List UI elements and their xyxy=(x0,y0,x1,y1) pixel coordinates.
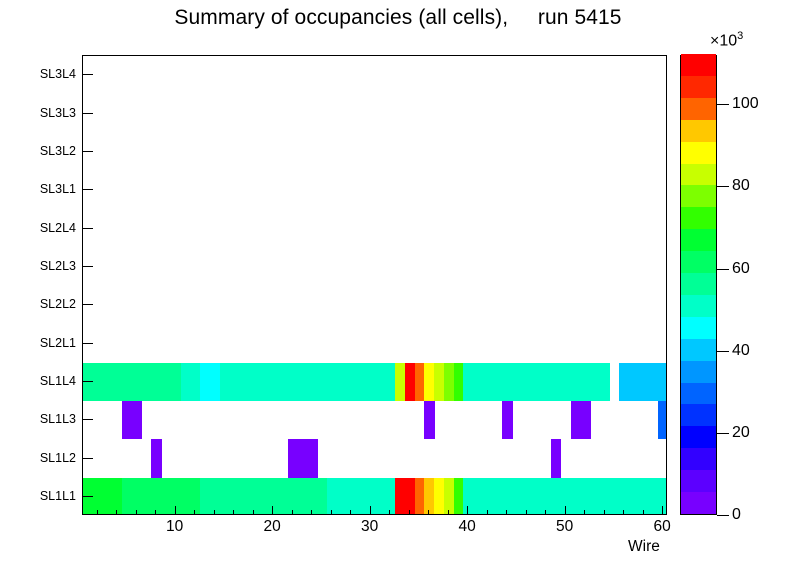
heatmap-cell xyxy=(161,478,171,514)
heatmap-cell xyxy=(600,363,610,401)
heatmap-cell xyxy=(454,363,464,401)
heatmap-cell xyxy=(366,363,376,401)
heatmap-cell xyxy=(249,478,259,514)
heatmap-cell xyxy=(346,363,356,401)
heatmap-cell xyxy=(210,478,220,514)
heatmap-cell xyxy=(239,363,249,401)
heatmap-cell xyxy=(580,401,590,439)
z-exponent-power: 3 xyxy=(737,30,743,42)
heatmap-cell xyxy=(337,478,347,514)
heatmap-cell xyxy=(181,363,191,401)
heatmap-cell xyxy=(132,401,142,439)
heatmap-cell xyxy=(307,363,317,401)
heatmap-cell xyxy=(239,478,249,514)
heatmap-cell xyxy=(493,363,503,401)
heatmap-cell xyxy=(151,363,161,401)
y-axis-tick xyxy=(82,189,93,190)
heatmap-cell xyxy=(220,478,230,514)
heatmap-cell xyxy=(122,478,132,514)
z-axis-tick xyxy=(717,433,729,434)
heatmap-cell xyxy=(288,363,298,401)
heatmap-cell xyxy=(405,363,415,401)
color-scale-band xyxy=(681,141,716,163)
heatmap-cell xyxy=(259,363,269,401)
heatmap-cell xyxy=(551,363,561,401)
heatmap-cell xyxy=(493,478,503,514)
color-scale-bar xyxy=(680,55,717,515)
x-axis-minor-tick xyxy=(487,510,488,515)
x-axis-minor-tick xyxy=(623,510,624,515)
heatmap-cell xyxy=(541,363,551,401)
x-axis-major-tick xyxy=(662,506,663,515)
x-axis-minor-tick xyxy=(233,510,234,515)
heatmap-cell xyxy=(229,363,239,401)
heatmap-cell xyxy=(93,363,103,401)
color-scale-band xyxy=(681,492,716,514)
z-axis-tick xyxy=(717,351,729,352)
heatmap-cell xyxy=(639,478,649,514)
y-axis-label-sl3l2: SL3L2 xyxy=(40,144,76,158)
heatmap-cell xyxy=(502,363,512,401)
heatmap-cell xyxy=(103,478,113,514)
heatmap-cell xyxy=(658,363,666,401)
heatmap-cell xyxy=(639,363,649,401)
heatmap-cell xyxy=(337,363,347,401)
heatmap-cell xyxy=(327,363,337,401)
heatmap-cell xyxy=(571,478,581,514)
page-title: Summary of occupancies (all cells), run … xyxy=(0,6,796,30)
heatmap-cell xyxy=(298,478,308,514)
color-scale-band xyxy=(681,185,716,207)
heatmap-cell xyxy=(551,439,561,477)
heatmap-cell xyxy=(619,363,629,401)
heatmap-cell xyxy=(600,478,610,514)
heatmap-cell xyxy=(405,478,415,514)
y-axis-label-sl1l4: SL1L4 xyxy=(40,374,76,388)
x-axis-major-tick xyxy=(565,506,566,515)
y-axis-tick xyxy=(82,266,93,267)
heatmap-plot-area xyxy=(83,56,666,514)
y-axis-tick xyxy=(82,151,93,152)
heatmap-cell xyxy=(93,478,103,514)
heatmap-cell xyxy=(658,401,666,439)
y-axis-label-sl2l2: SL2L2 xyxy=(40,297,76,311)
color-scale-band xyxy=(681,207,716,229)
heatmap-cell xyxy=(161,363,171,401)
heatmap-cell xyxy=(181,478,191,514)
heatmap-cell xyxy=(356,478,366,514)
heatmap-cell xyxy=(376,478,386,514)
z-axis-tick-label: 40 xyxy=(732,342,750,360)
x-axis-minor-tick xyxy=(194,510,195,515)
heatmap-cell xyxy=(151,478,161,514)
heatmap-cell xyxy=(259,478,269,514)
x-axis-minor-tick xyxy=(331,510,332,515)
heatmap-cell xyxy=(190,478,200,514)
z-axis-tick-label: 0 xyxy=(732,506,741,524)
root-canvas: Summary of occupancies (all cells), run … xyxy=(0,0,796,572)
x-axis-minor-tick xyxy=(604,510,605,515)
color-scale-band xyxy=(681,404,716,426)
heatmap-cell xyxy=(356,363,366,401)
heatmap-cell xyxy=(512,478,522,514)
heatmap-cell xyxy=(424,401,434,439)
x-axis-minor-tick xyxy=(311,510,312,515)
heatmap-cell xyxy=(307,439,317,477)
x-axis-minor-tick xyxy=(97,510,98,515)
heatmap-cell xyxy=(151,439,161,477)
y-axis-label-sl2l4: SL2L4 xyxy=(40,221,76,235)
y-axis-tick xyxy=(82,74,93,75)
x-axis-major-tick xyxy=(175,506,176,515)
x-axis-minor-tick xyxy=(116,510,117,515)
color-scale-band xyxy=(681,273,716,295)
x-axis-minor-tick xyxy=(214,510,215,515)
color-scale-band xyxy=(681,338,716,360)
x-axis-major-tick xyxy=(272,506,273,515)
heatmap-cell xyxy=(502,478,512,514)
heatmap-cell xyxy=(112,363,122,401)
heatmap-cell xyxy=(220,363,230,401)
y-axis-label-sl3l3: SL3L3 xyxy=(40,106,76,120)
heatmap-cell xyxy=(288,478,298,514)
heatmap-cell xyxy=(142,363,152,401)
color-scale-band xyxy=(681,229,716,251)
x-axis-tick-label: 50 xyxy=(556,518,573,536)
y-axis-tick xyxy=(82,381,93,382)
heatmap-cell xyxy=(346,478,356,514)
heatmap-cell xyxy=(512,363,522,401)
color-scale-band xyxy=(681,295,716,317)
x-axis-minor-tick xyxy=(428,510,429,515)
heatmap-cell xyxy=(415,363,425,401)
heatmap-cell xyxy=(200,363,210,401)
heatmap-cell xyxy=(307,478,317,514)
x-axis-tick-label: 10 xyxy=(166,518,183,536)
y-axis-tick xyxy=(82,496,93,497)
x-axis-minor-tick xyxy=(526,510,527,515)
heatmap-cell xyxy=(298,439,308,477)
heatmap-cell xyxy=(395,363,405,401)
heatmap-cell xyxy=(444,363,454,401)
heatmap-cell xyxy=(629,478,639,514)
heatmap-cell xyxy=(629,363,639,401)
heatmap-cell xyxy=(649,363,659,401)
color-scale-band xyxy=(681,97,716,119)
x-axis-minor-tick xyxy=(389,510,390,515)
heatmap-cell xyxy=(522,363,532,401)
heatmap-cell xyxy=(112,478,122,514)
heatmap-cell xyxy=(473,363,483,401)
heatmap-cell xyxy=(561,478,571,514)
color-scale-band xyxy=(681,76,716,98)
y-axis-tick xyxy=(82,343,93,344)
heatmap-cell xyxy=(541,478,551,514)
heatmap-cell xyxy=(463,363,473,401)
y-axis-label-sl3l4: SL3L4 xyxy=(40,67,76,81)
x-axis-title: Wire xyxy=(628,538,660,556)
plot-frame xyxy=(82,55,667,515)
color-scale-band xyxy=(681,251,716,273)
x-axis-minor-tick xyxy=(155,510,156,515)
heatmap-cell xyxy=(571,401,581,439)
z-axis-tick xyxy=(717,186,729,187)
z-axis-tick-label: 20 xyxy=(732,424,750,442)
heatmap-cell xyxy=(580,363,590,401)
heatmap-cell xyxy=(376,363,386,401)
color-scale-band xyxy=(681,316,716,338)
heatmap-cell xyxy=(171,363,181,401)
heatmap-cell xyxy=(278,478,288,514)
heatmap-cell xyxy=(288,439,298,477)
heatmap-cell xyxy=(571,363,581,401)
heatmap-cell xyxy=(424,478,434,514)
y-axis-labels: SL1L1SL1L2SL1L3SL1L4SL2L1SL2L2SL2L3SL2L4… xyxy=(0,0,77,572)
heatmap-cell xyxy=(171,478,181,514)
heatmap-cell xyxy=(415,478,425,514)
x-axis-major-tick xyxy=(467,506,468,515)
y-axis-label-sl2l1: SL2L1 xyxy=(40,336,76,350)
heatmap-cell xyxy=(395,478,405,514)
color-scale-band xyxy=(681,360,716,382)
heatmap-cell xyxy=(249,363,259,401)
x-axis-tick-label: 30 xyxy=(361,518,378,536)
y-axis-tick xyxy=(82,458,93,459)
heatmap-cell xyxy=(502,401,512,439)
y-axis-tick xyxy=(82,304,93,305)
heatmap-cell xyxy=(278,363,288,401)
heatmap-cell xyxy=(103,363,113,401)
z-axis-tick xyxy=(717,269,729,270)
heatmap-cell xyxy=(317,478,327,514)
color-scale-band xyxy=(681,470,716,492)
heatmap-cell xyxy=(580,478,590,514)
heatmap-cell xyxy=(532,363,542,401)
heatmap-cell xyxy=(473,478,483,514)
color-scale-band xyxy=(681,426,716,448)
heatmap-cell xyxy=(434,478,444,514)
y-axis-label-sl1l3: SL1L3 xyxy=(40,412,76,426)
z-axis-tick-label: 100 xyxy=(732,95,759,113)
heatmap-cell xyxy=(132,478,142,514)
x-axis-minor-tick xyxy=(136,510,137,515)
heatmap-cell xyxy=(385,478,395,514)
heatmap-cell xyxy=(483,363,493,401)
y-axis-label-sl3l1: SL3L1 xyxy=(40,182,76,196)
heatmap-cell xyxy=(122,401,132,439)
x-axis-major-tick xyxy=(370,506,371,515)
heatmap-cell xyxy=(268,363,278,401)
x-axis-minor-tick xyxy=(643,510,644,515)
color-scale-band xyxy=(681,119,716,141)
y-axis-tick xyxy=(82,113,93,114)
z-exponent-base: ×10 xyxy=(710,32,737,49)
heatmap-cell xyxy=(327,478,337,514)
heatmap-cell xyxy=(298,363,308,401)
x-axis-minor-tick xyxy=(448,510,449,515)
heatmap-cell xyxy=(649,478,659,514)
heatmap-cell xyxy=(268,478,278,514)
heatmap-cell xyxy=(522,478,532,514)
heatmap-cell xyxy=(483,478,493,514)
heatmap-cell xyxy=(610,478,620,514)
color-scale-band xyxy=(681,54,716,76)
x-axis-minor-tick xyxy=(506,510,507,515)
x-axis-minor-tick xyxy=(292,510,293,515)
heatmap-cell xyxy=(366,478,376,514)
y-axis-label-sl2l3: SL2L3 xyxy=(40,259,76,273)
y-axis-label-sl1l1: SL1L1 xyxy=(40,489,76,503)
heatmap-cell xyxy=(551,478,561,514)
z-axis-tick-label: 80 xyxy=(732,177,750,195)
x-axis-minor-tick xyxy=(350,510,351,515)
heatmap-cell xyxy=(619,478,629,514)
heatmap-cell xyxy=(532,478,542,514)
y-axis-tick xyxy=(82,419,93,420)
y-axis-tick xyxy=(82,228,93,229)
heatmap-cell xyxy=(590,363,600,401)
z-axis-tick xyxy=(717,515,729,516)
y-axis-label-sl1l2: SL1L2 xyxy=(40,451,76,465)
x-axis-tick-label: 40 xyxy=(459,518,476,536)
heatmap-cell xyxy=(229,478,239,514)
color-scale-band xyxy=(681,448,716,470)
x-axis-tick-label: 60 xyxy=(654,518,671,536)
z-axis-exponent: ×103 xyxy=(710,30,743,50)
heatmap-cell xyxy=(132,363,142,401)
x-axis-minor-tick xyxy=(409,510,410,515)
heatmap-cell xyxy=(434,363,444,401)
heatmap-cell xyxy=(444,478,454,514)
heatmap-cell xyxy=(385,363,395,401)
x-axis-minor-tick xyxy=(584,510,585,515)
z-axis-tick xyxy=(717,104,729,105)
heatmap-cell xyxy=(561,363,571,401)
color-scale-band xyxy=(681,382,716,404)
heatmap-cell xyxy=(463,478,473,514)
z-axis-tick-label: 60 xyxy=(732,260,750,278)
heatmap-cell xyxy=(122,363,132,401)
heatmap-cell xyxy=(454,478,464,514)
heatmap-cell xyxy=(142,478,152,514)
heatmap-cell xyxy=(210,363,220,401)
heatmap-cell xyxy=(190,363,200,401)
heatmap-cell xyxy=(200,478,210,514)
x-axis-minor-tick xyxy=(545,510,546,515)
color-scale-band xyxy=(681,163,716,185)
heatmap-cell xyxy=(424,363,434,401)
x-axis-minor-tick xyxy=(253,510,254,515)
x-axis-tick-label: 20 xyxy=(264,518,281,536)
heatmap-cell xyxy=(590,478,600,514)
heatmap-cell xyxy=(317,363,327,401)
